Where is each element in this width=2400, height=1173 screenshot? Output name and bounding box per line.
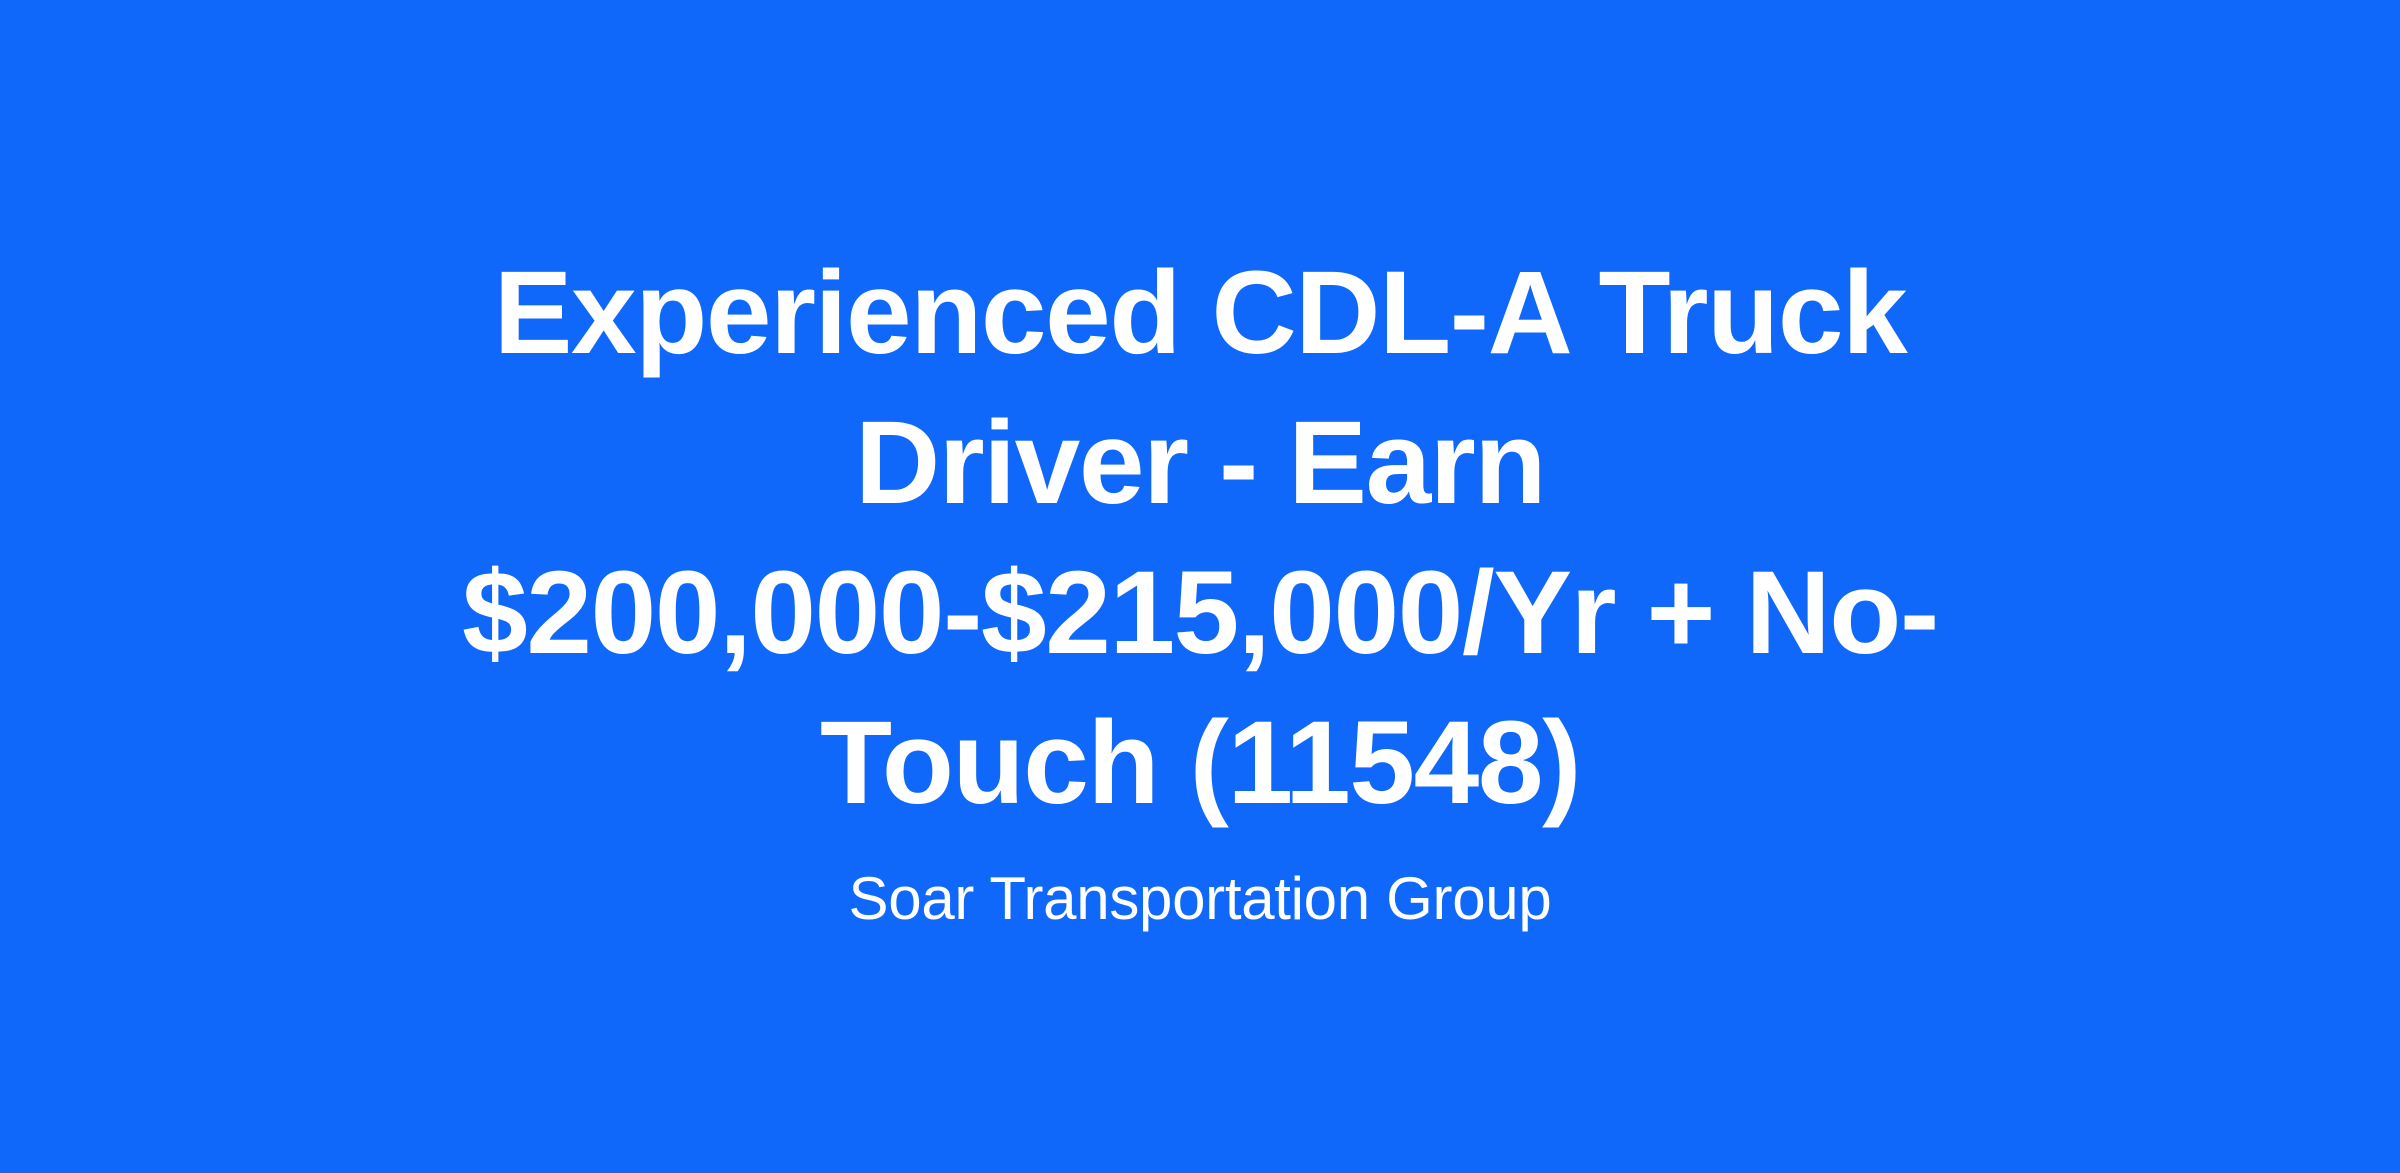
job-card-content: Experienced CDL-A Truck Driver - Earn $2…	[360, 238, 2040, 936]
job-posting-card: Experienced CDL-A Truck Driver - Earn $2…	[0, 0, 2400, 1173]
job-title: Experienced CDL-A Truck Driver - Earn $2…	[380, 238, 2020, 838]
company-name: Soar Transportation Group	[380, 862, 2020, 936]
